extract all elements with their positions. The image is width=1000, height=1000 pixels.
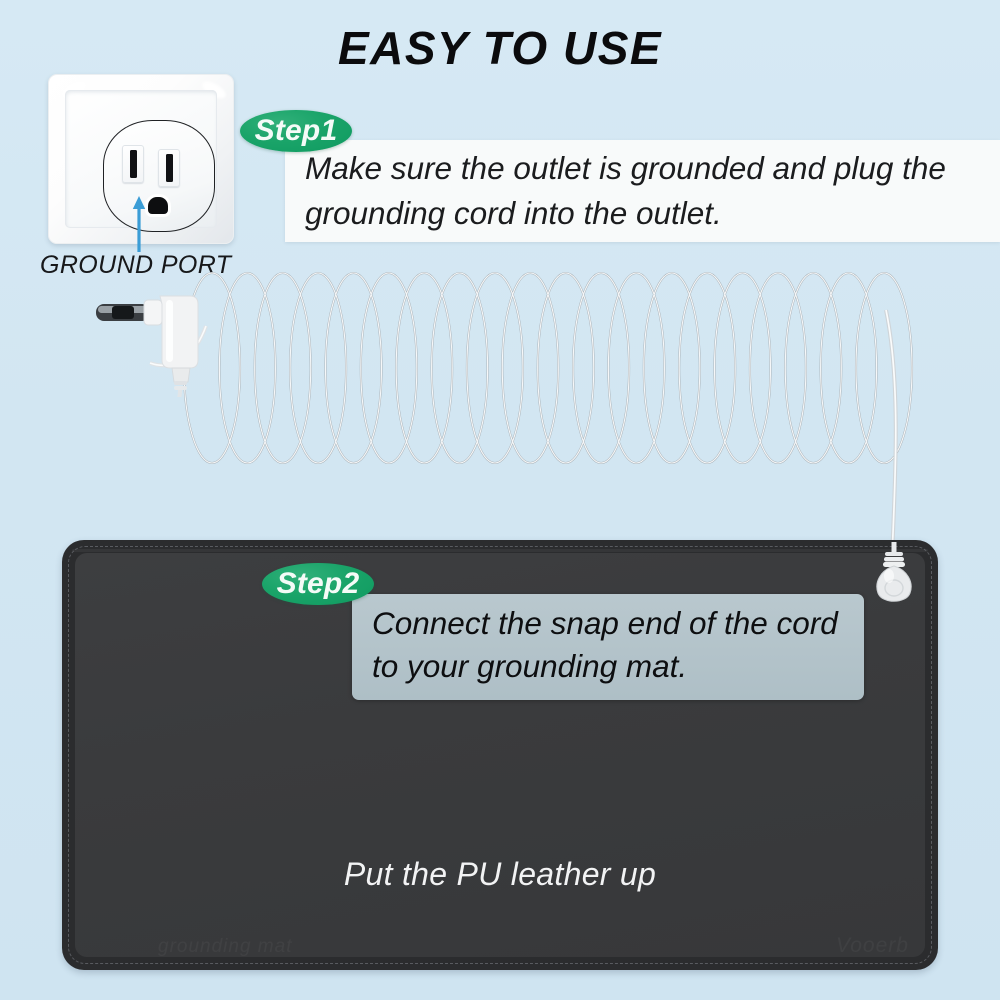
page-title: EASY TO USE (0, 24, 1000, 72)
mat-edge-highlight (72, 549, 928, 552)
infographic-canvas: EASY TO USE GROUND PORT Step1 Make sure … (0, 0, 1000, 1000)
step2-instruction-text: Connect the snap end of the cord to your… (372, 602, 852, 688)
ground-port-arrow-icon (132, 196, 146, 252)
snap-stud-connector (866, 540, 922, 610)
outlet-receptacle-face (103, 120, 215, 232)
outlet-slot-neutral (122, 145, 144, 183)
step2-badge: Step2 (262, 563, 374, 605)
outlet-ground-hole (148, 197, 168, 214)
mat-watermark-left: grounding mat (158, 936, 292, 958)
step1-instruction-text: Make sure the outlet is grounded and plu… (305, 146, 985, 235)
mat-caption: Put the PU leather up (0, 856, 1000, 893)
outlet-slot-hot (158, 149, 180, 187)
right-angle-ground-plug (86, 282, 286, 397)
mat-watermark-right: Vooerb (836, 934, 909, 958)
step1-badge: Step1 (240, 110, 352, 152)
